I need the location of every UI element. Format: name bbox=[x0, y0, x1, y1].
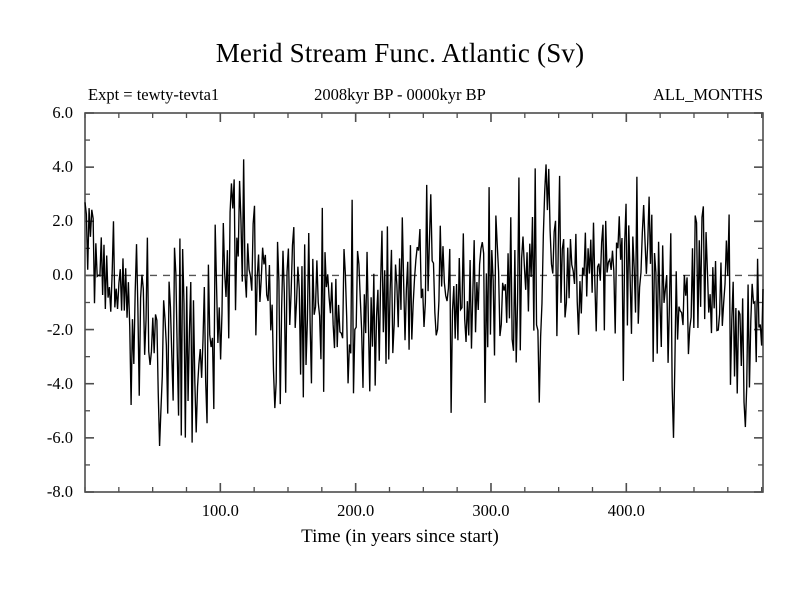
page-title: Merid Stream Func. Atlantic (Sv) bbox=[0, 38, 800, 69]
y-tick-label: -8.0 bbox=[15, 484, 73, 501]
y-tick-label: 4.0 bbox=[15, 159, 73, 176]
y-tick-label: -4.0 bbox=[15, 376, 73, 393]
figure-canvas: Merid Stream Func. Atlantic (Sv) Expt = … bbox=[0, 0, 800, 600]
y-tick-label: 0.0 bbox=[15, 267, 73, 284]
x-tick-label: 200.0 bbox=[311, 503, 401, 520]
x-tick-label: 400.0 bbox=[581, 503, 671, 520]
data-series-line bbox=[85, 159, 763, 446]
y-tick-label: -6.0 bbox=[15, 430, 73, 447]
x-axis-title: Time (in years since start) bbox=[0, 526, 800, 548]
x-tick-label: 300.0 bbox=[446, 503, 536, 520]
y-tick-label: 6.0 bbox=[15, 105, 73, 122]
months-label: ALL_MONTHS bbox=[653, 85, 763, 105]
y-tick-label: 2.0 bbox=[15, 213, 73, 230]
x-tick-label: 100.0 bbox=[175, 503, 265, 520]
y-tick-label: -2.0 bbox=[15, 322, 73, 339]
